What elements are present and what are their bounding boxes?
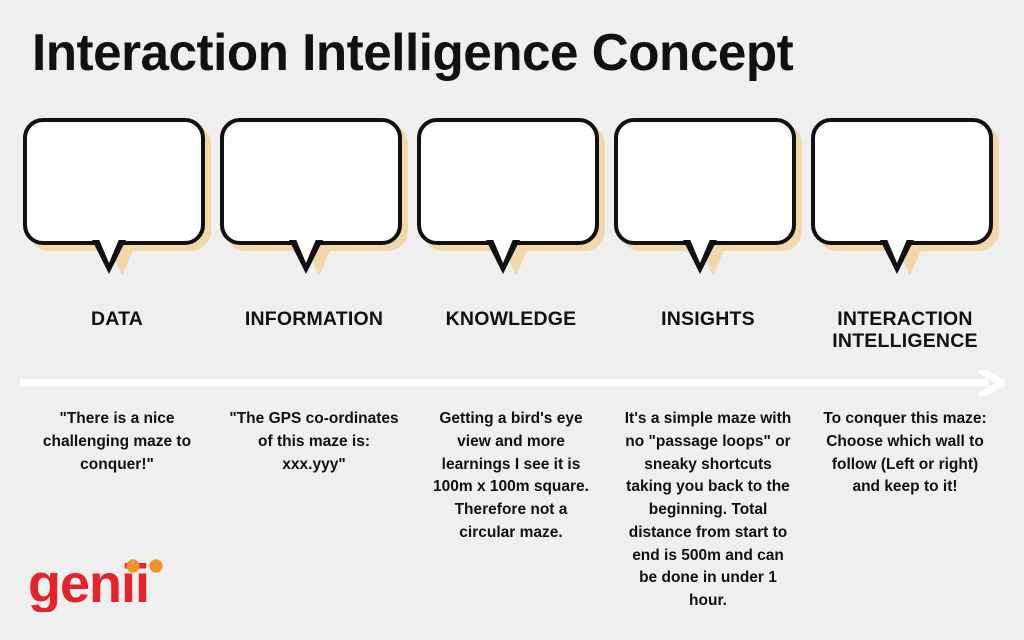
stage-label-interaction-intelligence: INTERACTION INTELLIGENCE <box>800 308 1010 352</box>
stage-quote-information: "The GPS co-ordinates of this maze is: x… <box>229 408 399 476</box>
stage-label-knowledge: KNOWLEDGE <box>406 308 616 330</box>
stage-bubbles-row <box>0 115 1024 295</box>
bubble-tail-fill <box>492 237 514 263</box>
bubble-tail-fill <box>295 237 317 263</box>
stage-label-information: INFORMATION <box>209 308 419 330</box>
stage-bubble-information[interactable] <box>215 115 412 295</box>
bubble-body <box>614 118 796 245</box>
stage-quote-knowledge: Getting a bird's eye view and more learn… <box>426 408 596 545</box>
stage-label-data: DATA <box>12 308 222 330</box>
genii-logo[interactable]: genii <box>28 556 178 612</box>
bubble-tail-fill <box>886 237 908 263</box>
stage-quote-insights: It's a simple maze with no "passage loop… <box>623 408 793 613</box>
bubble-tail-fill <box>98 237 120 263</box>
stage-label-insights: INSIGHTS <box>603 308 813 330</box>
stage-quote-interaction-intelligence: To conquer this maze: Choose which wall … <box>820 408 990 499</box>
stage-quote-data: "There is a nice challenging maze to con… <box>32 408 202 476</box>
stage-bubble-knowledge[interactable] <box>412 115 609 295</box>
stage-label-line-2: INTELLIGENCE <box>800 330 1010 352</box>
bubble-body <box>23 118 205 245</box>
genii-wordmark-icon: genii <box>28 556 178 612</box>
bubble-body <box>417 118 599 245</box>
progression-arrow-icon <box>20 370 1004 396</box>
stage-bubble-data[interactable] <box>18 115 215 295</box>
bubble-tail-fill <box>689 237 711 263</box>
stage-labels-row: DATA INFORMATION KNOWLEDGE INSIGHTS INTE… <box>0 308 1024 363</box>
stage-bubble-interaction-intelligence[interactable] <box>806 115 1003 295</box>
stage-bubble-insights[interactable] <box>609 115 806 295</box>
stage-label-line-1: INTERACTION <box>800 308 1010 330</box>
page-title: Interaction Intelligence Concept <box>32 26 987 81</box>
bubble-body <box>220 118 402 245</box>
bubble-body <box>811 118 993 245</box>
progression-arrow <box>20 370 1004 396</box>
